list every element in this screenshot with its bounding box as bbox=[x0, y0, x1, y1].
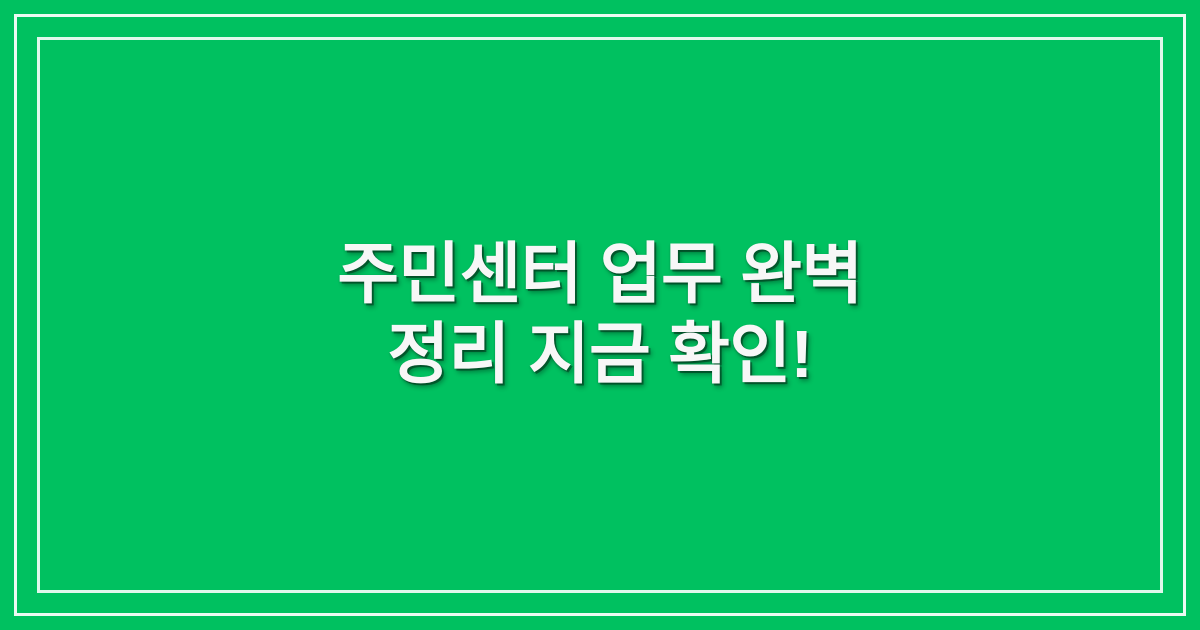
banner-headline: 주민센터 업무 완벽 정리 지금 확인! bbox=[280, 235, 920, 395]
headline-container: 주민센터 업무 완벽 정리 지금 확인! bbox=[270, 235, 930, 395]
banner-root: 주민센터 업무 완벽 정리 지금 확인! bbox=[0, 0, 1200, 630]
headline-line-2: 정리 지금 확인! bbox=[280, 315, 920, 395]
headline-line-1: 주민센터 업무 완벽 bbox=[280, 235, 920, 315]
